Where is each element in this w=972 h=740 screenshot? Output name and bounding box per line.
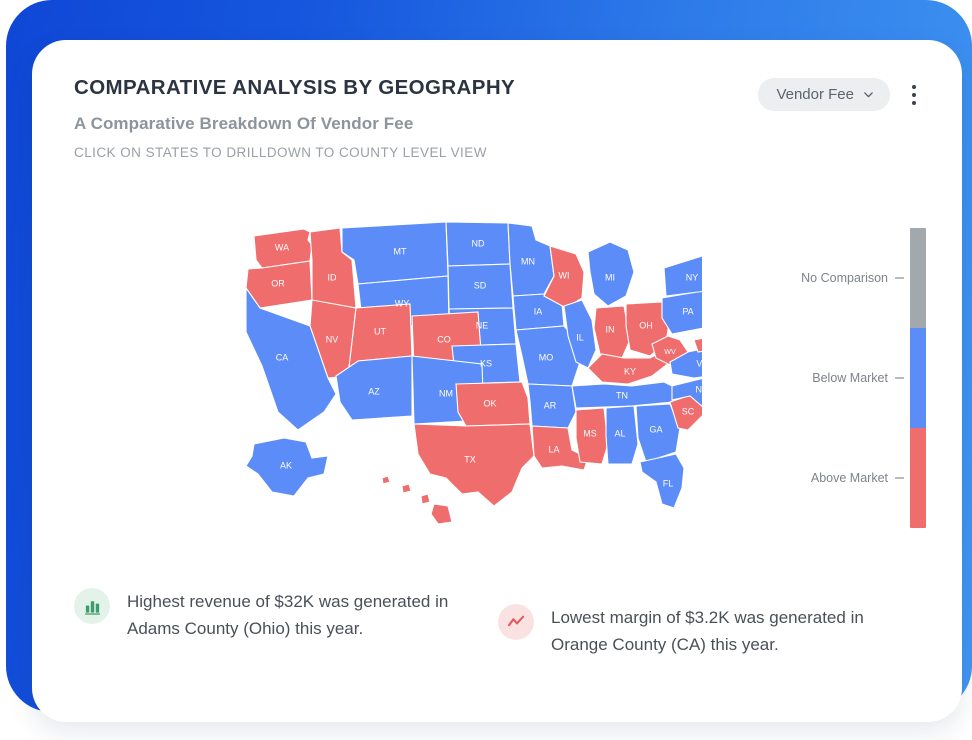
state-hi-4[interactable]	[431, 504, 452, 524]
insight-highest-revenue: Highest revenue of $32K was generated in…	[74, 588, 474, 658]
bar-chart-icon	[74, 588, 110, 624]
state-md[interactable]	[694, 334, 702, 352]
legend-segment-above-market	[910, 428, 926, 528]
legend-tick-icon	[895, 477, 904, 478]
state-mn[interactable]	[508, 223, 554, 296]
legend-item-no-comparison: No Comparison	[801, 271, 904, 285]
state-or[interactable]	[246, 261, 312, 308]
more-options-button[interactable]	[906, 79, 922, 111]
insight-text-lowest-margin: Lowest margin of $3.2K was generated in …	[551, 604, 918, 658]
legend-tick-icon	[895, 277, 904, 278]
chevron-down-icon	[863, 89, 874, 100]
state-al[interactable]	[606, 406, 638, 464]
screenshot-root: COMPARATIVE ANALYSIS BY GEOGRAPHY A Comp…	[0, 0, 972, 740]
state-ak[interactable]	[246, 438, 328, 496]
header-controls: Vendor Fee	[758, 78, 922, 111]
insight-lowest-margin: Lowest margin of $3.2K was generated in …	[498, 588, 918, 658]
state-ok[interactable]	[456, 382, 530, 426]
legend-label-below-market: Below Market	[812, 371, 888, 385]
legend-color-bar	[910, 228, 926, 528]
state-tx[interactable]	[414, 424, 534, 506]
state-pa[interactable]	[662, 290, 702, 334]
insights-row: Highest revenue of $32K was generated in…	[74, 588, 922, 658]
state-mi[interactable]	[588, 242, 634, 306]
analysis-card: COMPARATIVE ANALYSIS BY GEOGRAPHY A Comp…	[32, 40, 962, 722]
legend-segment-no-comparison	[910, 228, 926, 328]
state-in[interactable]	[594, 306, 630, 358]
kebab-dot	[912, 101, 916, 105]
state-ar[interactable]	[528, 384, 576, 428]
legend-label-above-market: Above Market	[811, 471, 888, 485]
map-legend: No Comparison Below Market Above Market	[766, 228, 926, 528]
state-hi-1[interactable]	[382, 476, 390, 484]
us-choropleth-map[interactable]: WA OR ID MT ND SD WY NE NV UT CO KS CA A…	[232, 216, 702, 556]
state-nd[interactable]	[446, 222, 510, 266]
kebab-dot	[912, 85, 916, 89]
drilldown-hint: CLICK ON STATES TO DRILLDOWN TO COUNTY L…	[74, 145, 922, 160]
legend-tick-icon	[895, 377, 904, 378]
state-ny[interactable]	[664, 256, 702, 296]
metric-selector-dropdown[interactable]: Vendor Fee	[758, 78, 890, 111]
legend-label-no-comparison: No Comparison	[801, 271, 888, 285]
insight-text-highest-revenue: Highest revenue of $32K was generated in…	[127, 588, 474, 642]
card-subtitle: A Comparative Breakdown Of Vendor Fee	[74, 114, 922, 134]
legend-item-below-market: Below Market	[812, 371, 904, 385]
metric-selector-label: Vendor Fee	[776, 86, 854, 103]
state-hi-2[interactable]	[402, 484, 411, 493]
kebab-dot	[912, 93, 916, 97]
legend-item-above-market: Above Market	[811, 471, 904, 485]
state-fl[interactable]	[640, 454, 684, 508]
state-mt[interactable]	[342, 222, 448, 284]
state-ms[interactable]	[576, 408, 608, 464]
state-sd[interactable]	[448, 264, 513, 309]
line-chart-icon	[498, 604, 534, 640]
legend-segment-below-market	[910, 328, 926, 428]
state-hi-3[interactable]	[421, 494, 430, 504]
